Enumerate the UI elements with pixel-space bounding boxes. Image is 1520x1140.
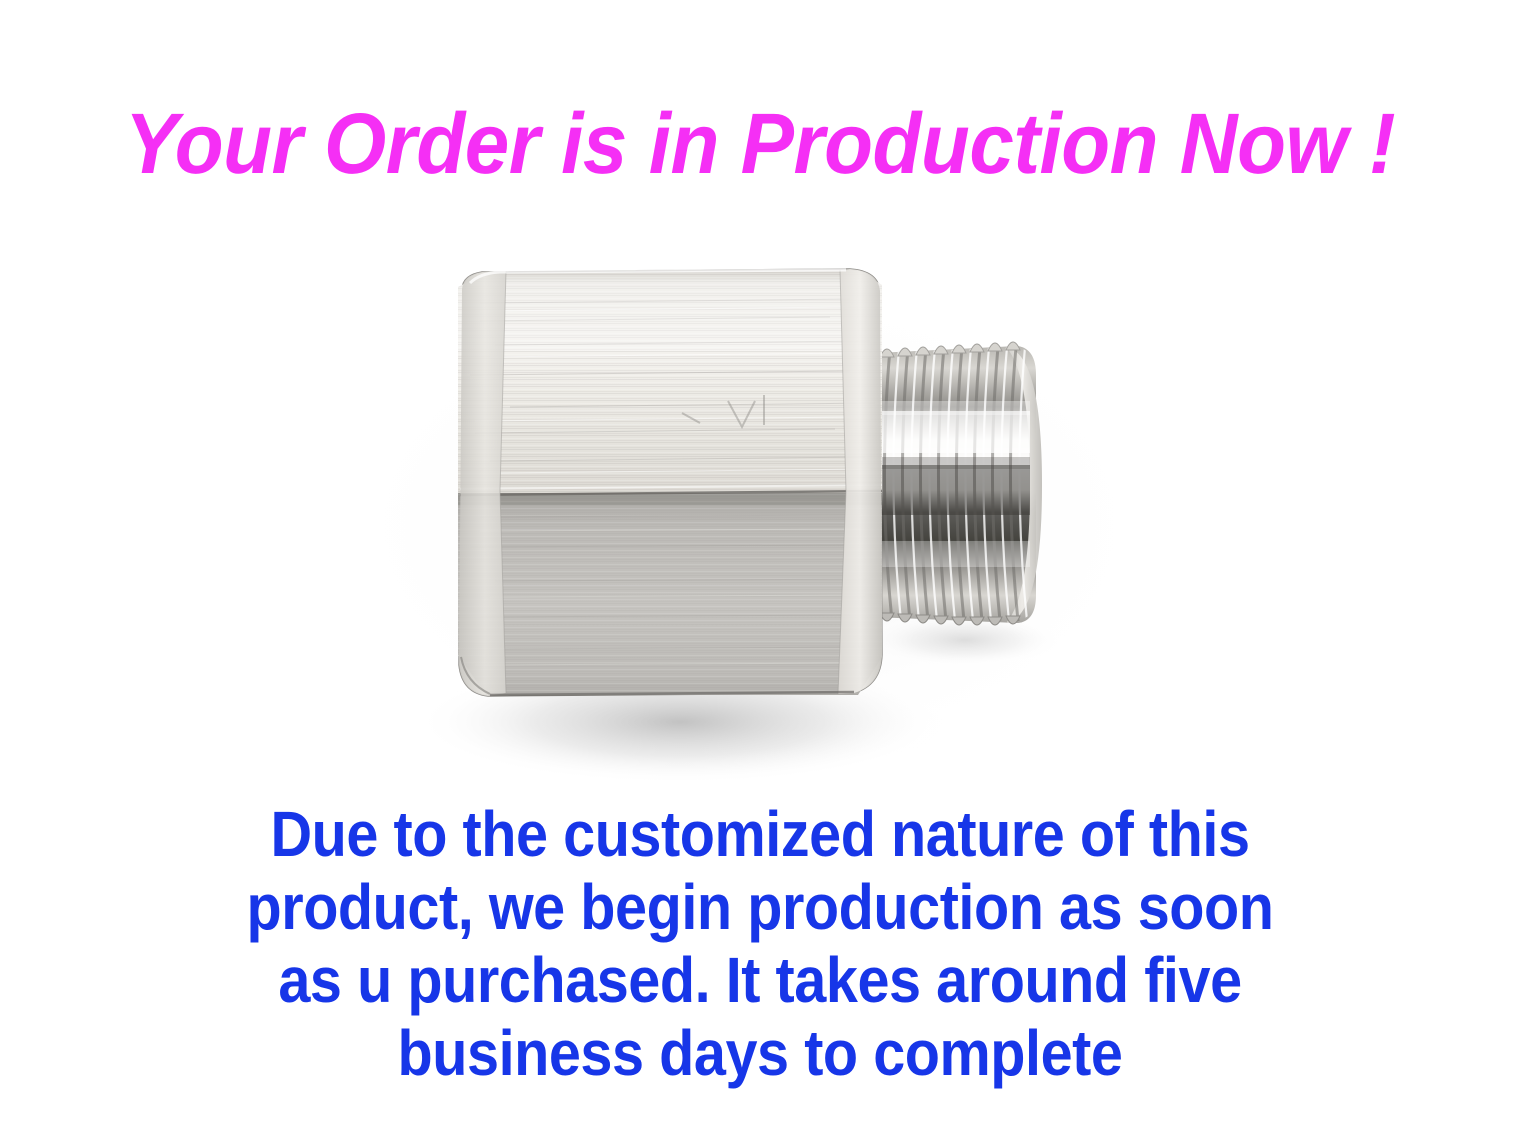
notice-line-3: as u purchased. It takes around five — [76, 944, 1444, 1017]
threaded-nipple — [870, 342, 1045, 625]
page-title: Your Order is in Production Now ! — [53, 96, 1467, 192]
notice-line-2: product, we begin production as soon — [76, 871, 1444, 944]
notice-line-4: business days to complete — [76, 1017, 1444, 1090]
promo-banner: Your Order is in Production Now ! — [0, 0, 1520, 1140]
product-image-hex-pipe-adapter — [330, 225, 1210, 825]
hex-nut-body — [450, 265, 890, 702]
production-notice: Due to the customized nature of this pro… — [76, 798, 1444, 1090]
notice-line-1: Due to the customized nature of this — [76, 798, 1444, 871]
